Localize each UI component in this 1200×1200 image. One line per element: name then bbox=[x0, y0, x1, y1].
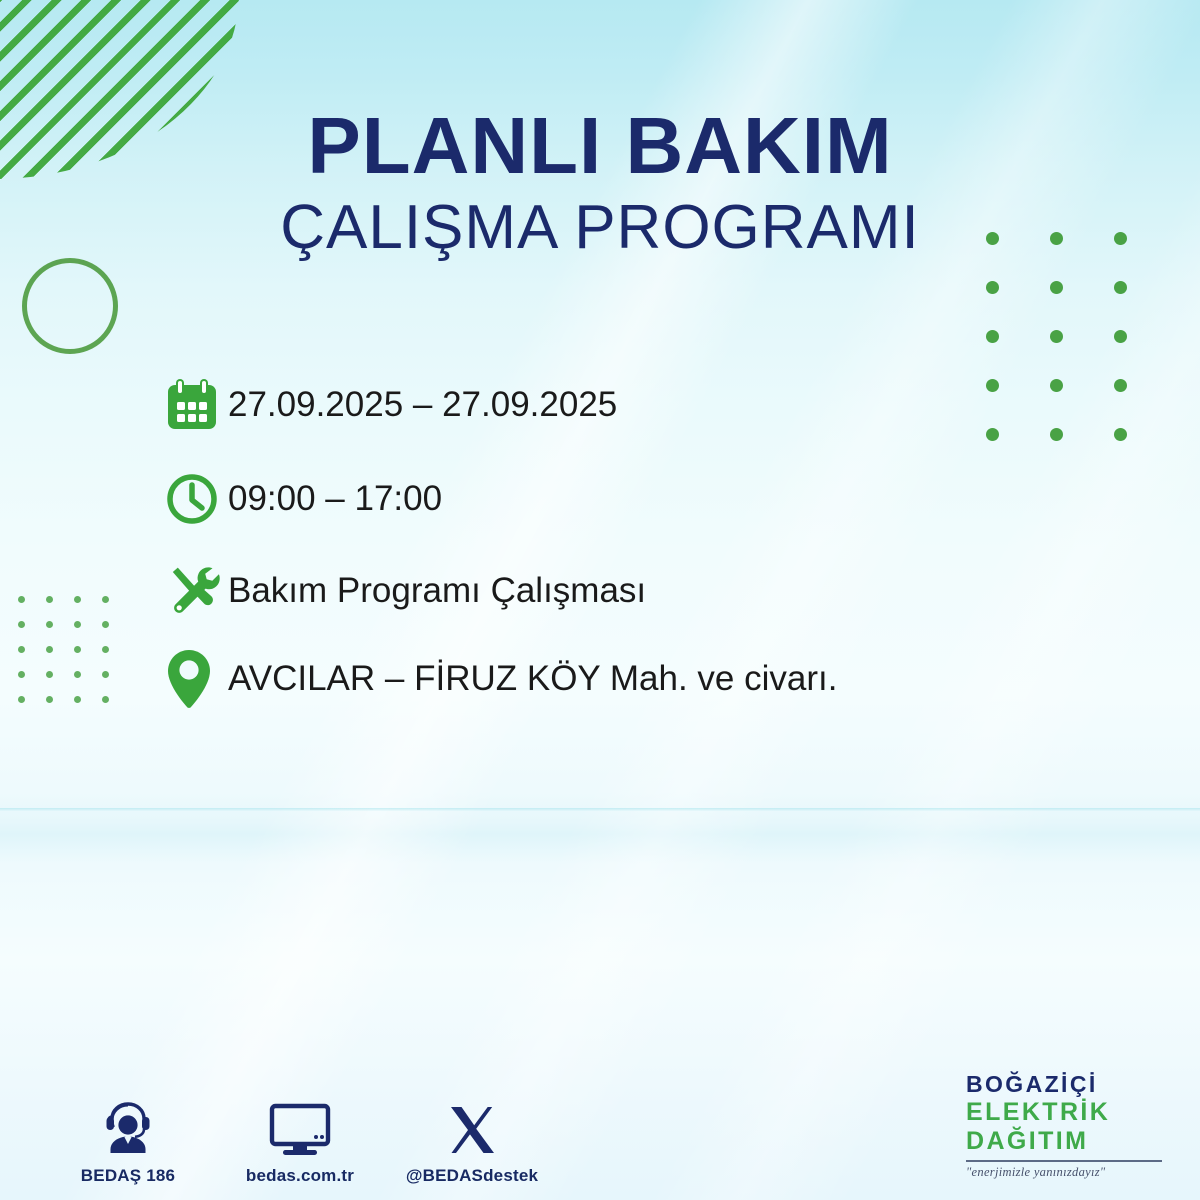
circle-outline-decoration bbox=[22, 258, 118, 354]
contact-x-item[interactable]: @BEDASdestek bbox=[402, 1097, 542, 1186]
poster-header: PLANLI BAKIM ÇALIŞMA PROGRAMI bbox=[0, 106, 1200, 263]
detail-work-type-text: Bakım Programı Çalışması bbox=[228, 571, 646, 611]
contact-website-label: bedas.com.tr bbox=[246, 1166, 354, 1185]
brand-line-elektrik: ELEKTRİK bbox=[966, 1098, 1172, 1127]
outage-details-list: 27.09.2025 – 27.09.2025 09:00 – 17:00 bbox=[166, 372, 1066, 734]
dot-grid-left-decoration bbox=[18, 596, 130, 721]
tools-icon bbox=[166, 558, 228, 624]
detail-date-text: 27.09.2025 – 27.09.2025 bbox=[228, 385, 617, 425]
detail-time-text: 09:00 – 17:00 bbox=[228, 479, 442, 519]
detail-row-work-type: Bakım Programı Çalışması bbox=[166, 558, 1066, 624]
page-title: PLANLI BAKIM bbox=[0, 106, 1200, 186]
contact-phone-item[interactable]: BEDAŞ 186 bbox=[58, 1097, 198, 1186]
support-agent-icon bbox=[58, 1097, 198, 1159]
map-pin-icon bbox=[166, 646, 228, 712]
clock-icon bbox=[166, 466, 228, 532]
detail-row-date: 27.09.2025 – 27.09.2025 bbox=[166, 372, 1066, 438]
brand-tagline: "enerjimizle yanınızdayız" bbox=[966, 1165, 1172, 1180]
background-horizontal-band bbox=[0, 808, 1200, 811]
calendar-icon bbox=[166, 372, 228, 438]
brand-logo: BOĞAZİÇİ ELEKTRİK DAĞITIM "enerjimizle y… bbox=[966, 1071, 1172, 1180]
x-twitter-icon bbox=[402, 1097, 542, 1159]
monitor-icon bbox=[230, 1097, 370, 1159]
brand-line-bogazici: BOĞAZİÇİ bbox=[966, 1071, 1172, 1098]
contact-x-label: @BEDASdestek bbox=[406, 1166, 538, 1185]
footer-social-links: BEDAŞ 186 bedas.com.tr @BEDASdestek bbox=[58, 1097, 542, 1186]
poster-canvas: PLANLI BAKIM ÇALIŞMA PROGRAMI bbox=[0, 0, 1200, 1200]
brand-divider bbox=[966, 1160, 1162, 1162]
brand-line-dagitim: DAĞITIM bbox=[966, 1127, 1172, 1156]
detail-row-time: 09:00 – 17:00 bbox=[166, 466, 1066, 532]
contact-phone-label: BEDAŞ 186 bbox=[81, 1166, 175, 1185]
detail-row-location: AVCILAR – FİRUZ KÖY Mah. ve civarı. bbox=[166, 646, 1066, 712]
detail-location-text: AVCILAR – FİRUZ KÖY Mah. ve civarı. bbox=[228, 659, 837, 699]
contact-website-item[interactable]: bedas.com.tr bbox=[230, 1097, 370, 1186]
page-subtitle: ÇALIŞMA PROGRAMI bbox=[0, 192, 1200, 263]
